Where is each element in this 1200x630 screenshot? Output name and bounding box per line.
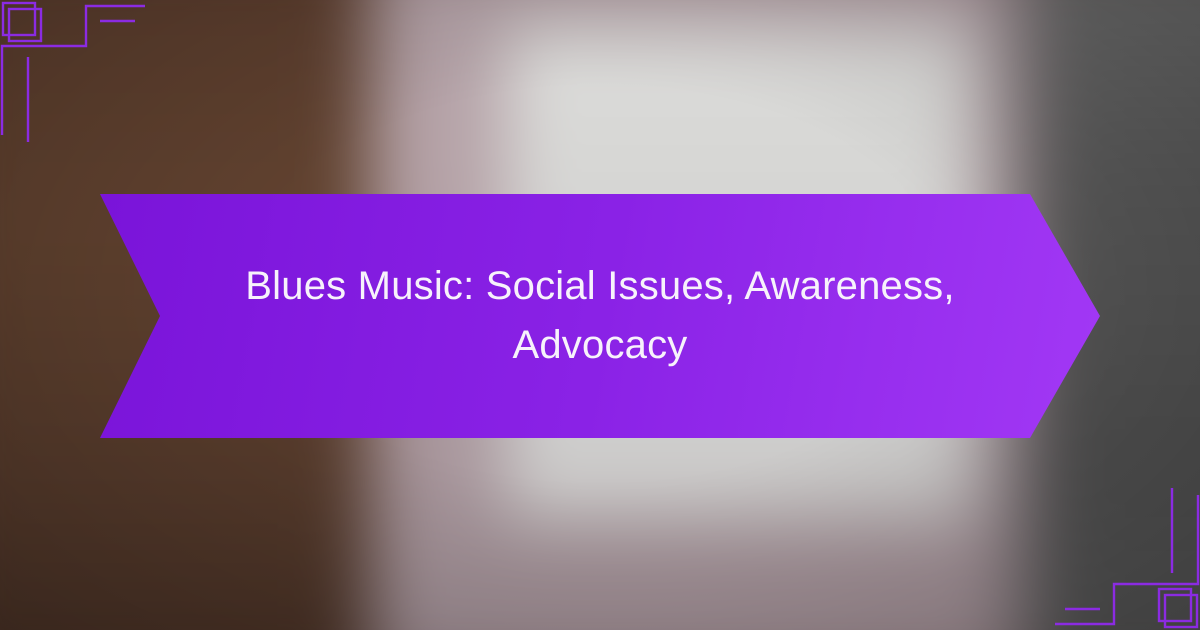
social-share-card: Blues Music: Social Issues, Awareness, A… — [0, 0, 1200, 630]
banner-title-text: Blues Music: Social Issues, Awareness, A… — [205, 257, 995, 375]
title-banner: Blues Music: Social Issues, Awareness, A… — [100, 194, 1100, 438]
